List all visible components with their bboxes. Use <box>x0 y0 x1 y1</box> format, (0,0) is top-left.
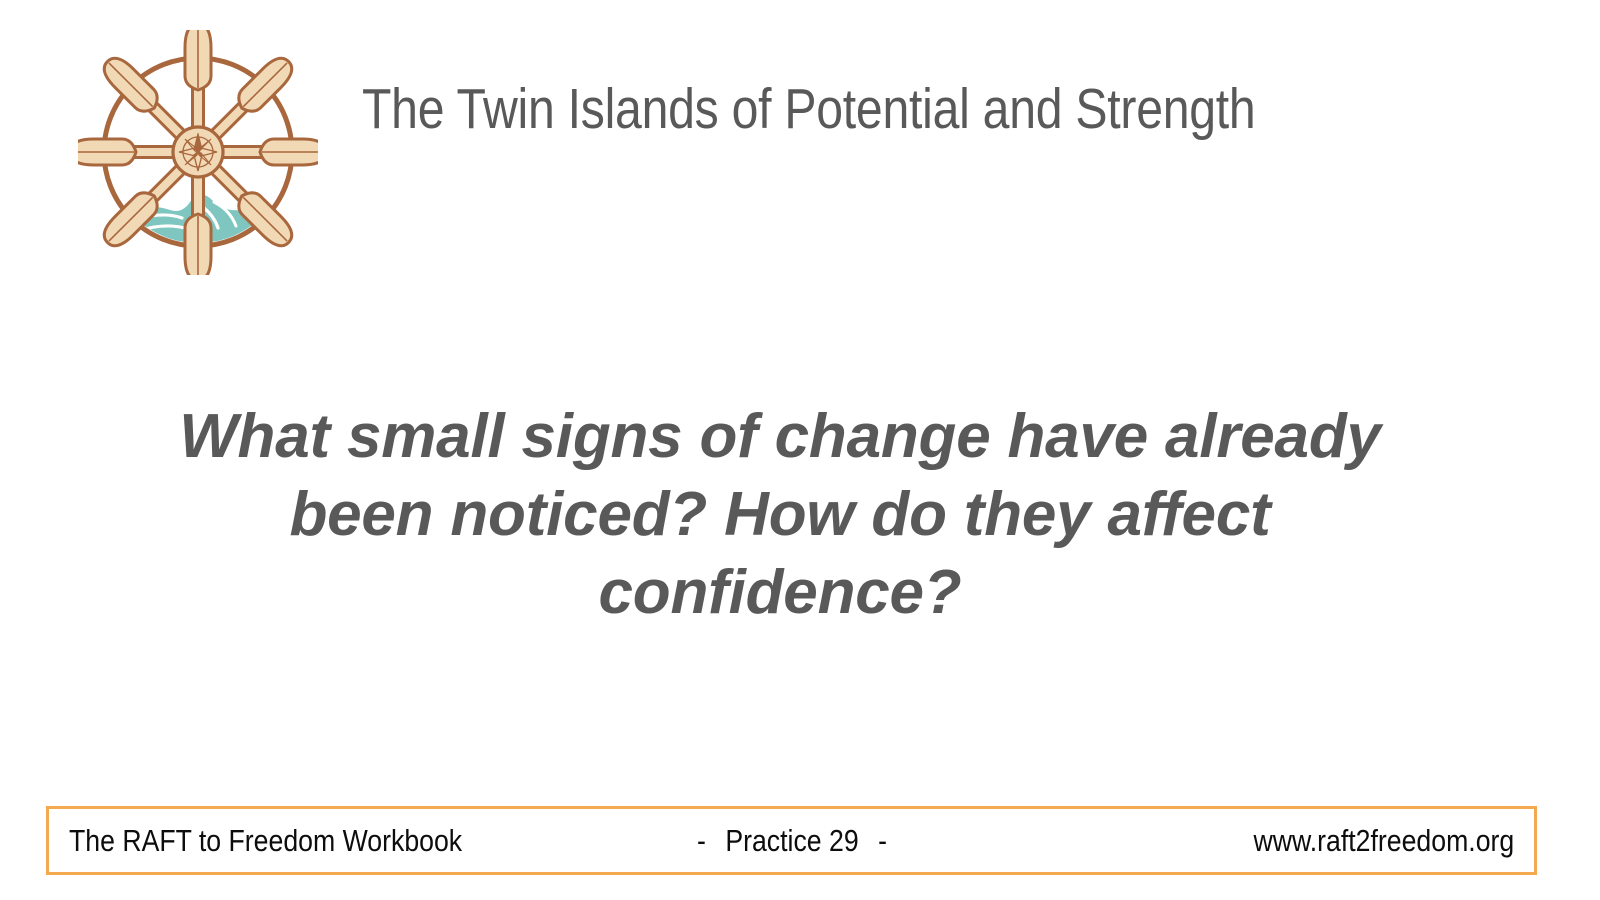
page-title: The Twin Islands of Potential and Streng… <box>362 66 1266 156</box>
footer-separator-left: - <box>696 823 705 858</box>
footer-practice-number: Practice 29 <box>713 823 870 858</box>
footer-separator-right: - <box>878 823 887 858</box>
footer-workbook-title: The RAFT to Freedom Workbook <box>69 823 462 859</box>
raft-wheel-logo <box>78 30 318 275</box>
footer-website-link[interactable]: www.raft2freedom.org <box>1253 823 1514 859</box>
footer-bar: The RAFT to Freedom Workbook - Practice … <box>46 806 1537 875</box>
question-line-2: been noticed? How do they affect <box>110 476 1450 554</box>
question-text: What small signs of change have already … <box>110 398 1450 632</box>
question-line-3: confidence? <box>110 554 1450 632</box>
footer-practice-label: - Practice 29 - <box>696 823 886 859</box>
raft-wheel-logo-svg <box>78 30 318 275</box>
slide-canvas: The Twin Islands of Potential and Streng… <box>0 0 1600 900</box>
question-line-1: What small signs of change have already <box>110 398 1450 476</box>
